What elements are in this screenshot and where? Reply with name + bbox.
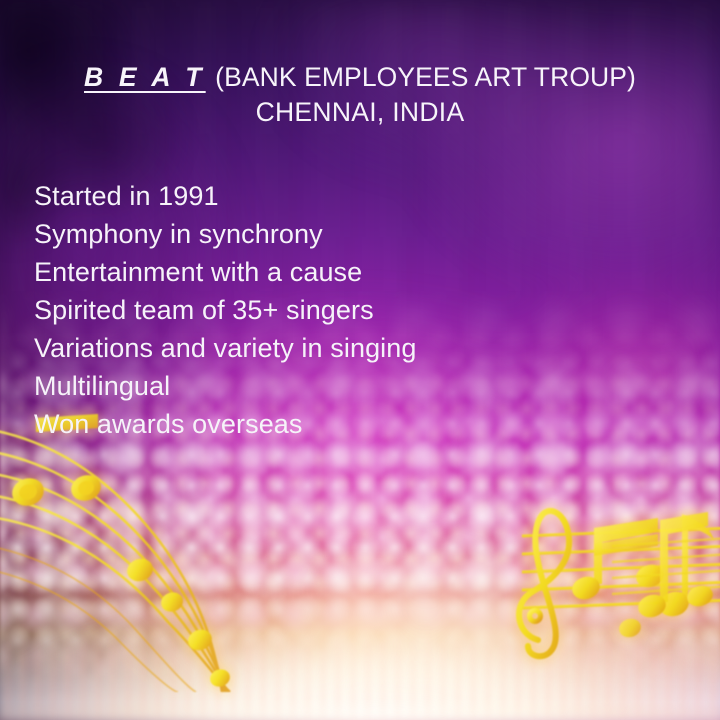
title-block: B E A T (BANK EMPLOYEES ART TROUP) CHENN… <box>0 61 720 129</box>
body-line: Multilingual <box>34 367 417 405</box>
brand-name-beat: B E A T <box>84 62 208 92</box>
body-line: Entertainment with a cause <box>34 253 417 291</box>
body-line: Won awards overseas <box>34 405 417 443</box>
body-text-block: Started in 1991 Symphony in synchrony En… <box>34 177 417 443</box>
eighth-notes-far-right-icon <box>612 500 720 640</box>
background-floor-reflection <box>0 620 720 720</box>
treble-clef-and-staff-icon <box>498 488 720 668</box>
body-line: Spirited team of 35+ singers <box>34 291 417 329</box>
body-line: Symphony in synchrony <box>34 215 417 253</box>
brand-expansion: (BANK EMPLOYEES ART TROUP) <box>208 62 636 92</box>
title-line-primary: B E A T (BANK EMPLOYEES ART TROUP) <box>0 61 720 93</box>
title-line-location: CHENNAI, INDIA <box>0 96 720 129</box>
body-line: Started in 1991 <box>34 177 417 215</box>
body-line: Variations and variety in singing <box>34 329 417 367</box>
slide-canvas: B E A T (BANK EMPLOYEES ART TROUP) CHENN… <box>0 0 720 720</box>
